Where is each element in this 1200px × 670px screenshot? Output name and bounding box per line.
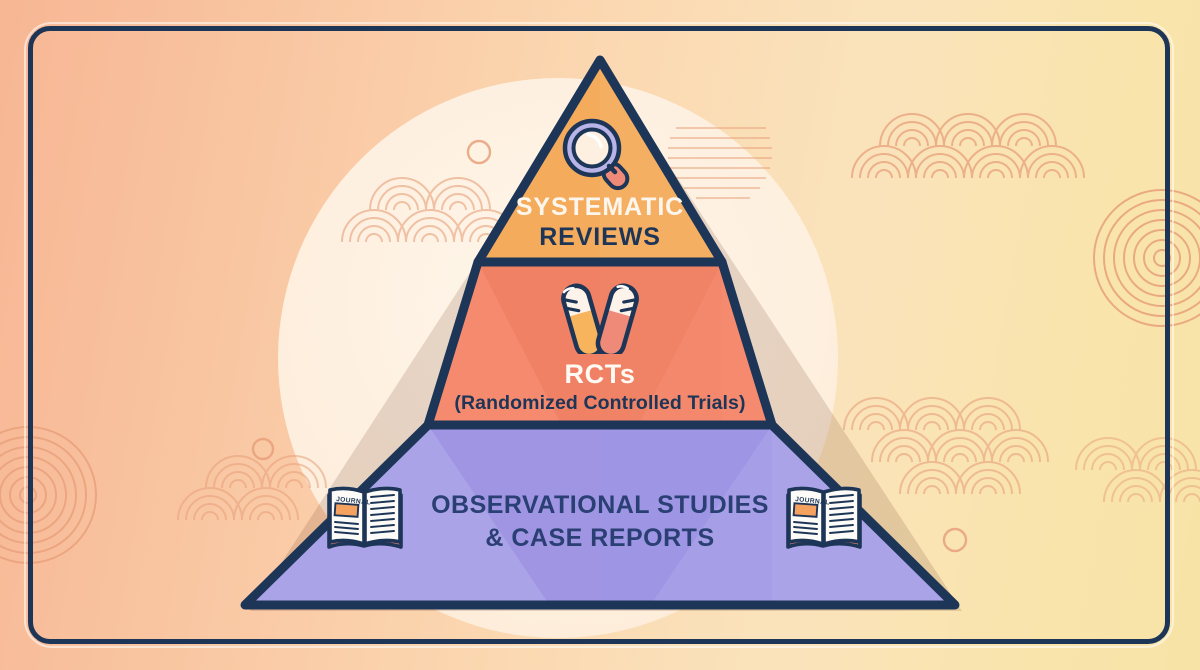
pyramid-level-top (478, 60, 722, 262)
evidence-pyramid (0, 0, 1200, 670)
infographic-canvas: JOURNAL JO (0, 0, 1200, 670)
